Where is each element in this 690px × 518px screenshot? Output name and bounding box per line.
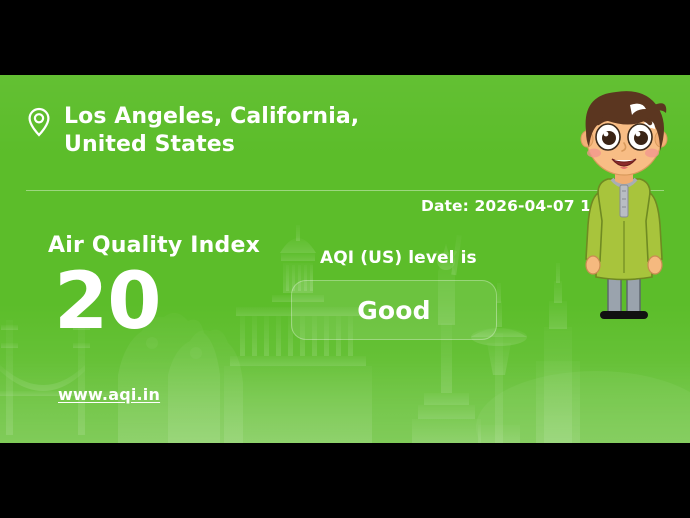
aqi-card: Los Angeles, California, United States D… [0,75,690,443]
aqi-level-label: AQI (US) level is [320,248,477,268]
aqi-level-value: Good [357,296,431,325]
aqi-value: 20 [54,263,161,341]
aqi-title: Air Quality Index [48,233,260,258]
aqi-level-badge: Good [291,280,497,340]
map-pin-icon [26,107,52,137]
site-link[interactable]: www.aqi.in [58,385,160,404]
location-row: Los Angeles, California, United States [26,103,359,158]
location-name: Los Angeles, California, United States [64,103,359,158]
boy-mascot-illustration [556,81,690,331]
screenshot-root: Los Angeles, California, United States D… [0,0,690,518]
